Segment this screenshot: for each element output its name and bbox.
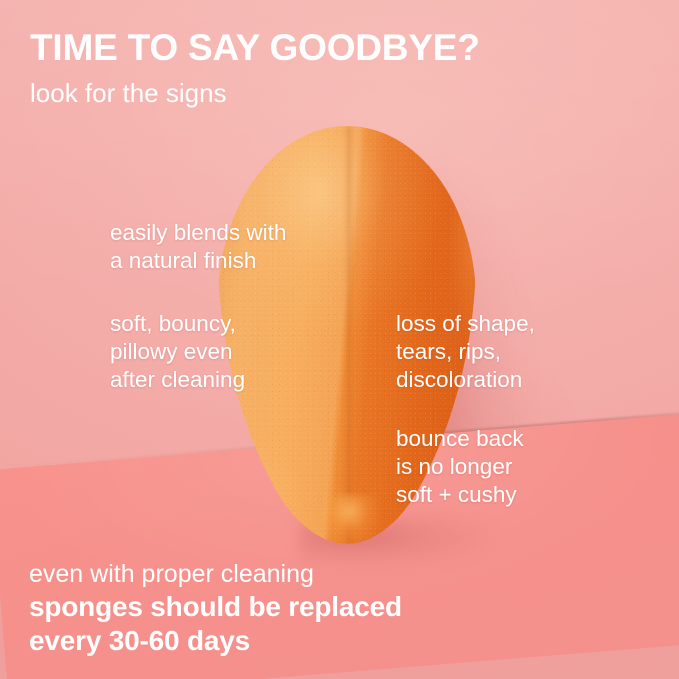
callout-bad-bounce: bounce back is no longer soft + cushy bbox=[396, 425, 524, 509]
footer-message: even with proper cleaning sponges should… bbox=[29, 558, 402, 658]
callout-bad-shape: loss of shape, tears, rips, discoloratio… bbox=[396, 310, 535, 394]
sponge-rim-light bbox=[390, 151, 476, 444]
sponge-tip-glow bbox=[316, 494, 383, 544]
footer-line-2: sponges should be replaced bbox=[29, 590, 402, 624]
callout-good-soft: soft, bouncy, pillowy even after cleanin… bbox=[110, 310, 245, 394]
page-title: TIME TO SAY GOODBYE? bbox=[30, 29, 480, 68]
callout-good-blend: easily blends with a natural finish bbox=[110, 219, 286, 275]
page-subtitle: look for the signs bbox=[30, 79, 227, 108]
footer-line-3: every 30-60 days bbox=[29, 624, 402, 658]
infographic-canvas: TIME TO SAY GOODBYE? look for the signs … bbox=[0, 0, 679, 679]
footer-line-1: even with proper cleaning bbox=[29, 558, 402, 590]
sponge-shade-seam bbox=[344, 126, 354, 544]
